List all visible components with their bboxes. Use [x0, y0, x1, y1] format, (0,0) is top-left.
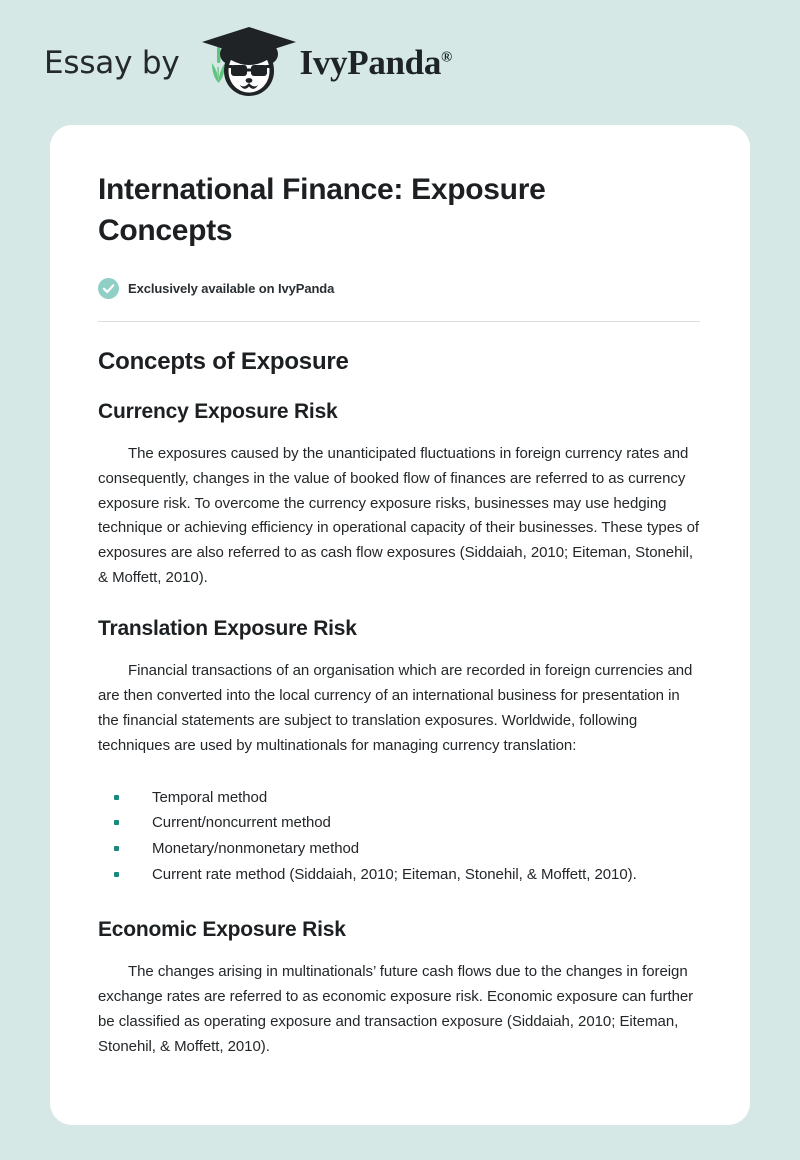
bullet-icon — [114, 820, 119, 825]
list-item-label: Current rate method (Siddaiah, 2010; Eit… — [152, 866, 637, 883]
subsection-heading-currency: Currency Exposure Risk — [98, 400, 700, 424]
bullet-icon — [114, 795, 119, 800]
exclusive-availability-badge: Exclusively available on IvyPanda — [98, 278, 700, 299]
check-circle-icon — [98, 278, 119, 299]
badge-label: Exclusively available on IvyPanda — [128, 281, 334, 296]
bullet-icon — [114, 846, 119, 851]
subsection-paragraph-economic: The changes arising in multinationals’ f… — [98, 960, 700, 1060]
list-item: Monetary/nonmonetary method — [114, 836, 700, 862]
list-item-label: Monetary/nonmonetary method — [152, 840, 359, 857]
brand-header: Essay by — [0, 0, 800, 125]
list-item: Current rate method (Siddaiah, 2010; Eit… — [114, 862, 700, 888]
ivypanda-logo[interactable]: IvyPanda® — [196, 27, 452, 99]
essay-by-label: Essay by — [44, 45, 180, 81]
header-divider — [98, 321, 700, 322]
translation-methods-list: Temporal method Current/noncurrent metho… — [98, 785, 700, 888]
list-item-label: Temporal method — [152, 789, 267, 806]
subsection-paragraph-translation: Financial transactions of an organisatio… — [98, 659, 700, 759]
registered-trademark-icon: ® — [441, 49, 452, 65]
list-item: Temporal method — [114, 785, 700, 811]
bullet-icon — [114, 872, 119, 877]
list-item: Current/noncurrent method — [114, 810, 700, 836]
essay-card: International Finance: Exposure Concepts… — [50, 125, 750, 1125]
page-title: International Finance: Exposure Concepts — [98, 169, 658, 252]
wordmark-text: IvyPanda — [300, 43, 442, 82]
subsection-paragraph-currency: The exposures caused by the unanticipate… — [98, 442, 700, 591]
list-item-label: Current/noncurrent method — [152, 814, 331, 831]
ivypanda-wordmark: IvyPanda® — [300, 43, 452, 83]
panda-graduate-logo-icon — [196, 27, 304, 99]
subsection-heading-translation: Translation Exposure Risk — [98, 617, 700, 641]
section-heading: Concepts of Exposure — [98, 348, 700, 376]
subsection-heading-economic: Economic Exposure Risk — [98, 918, 700, 942]
